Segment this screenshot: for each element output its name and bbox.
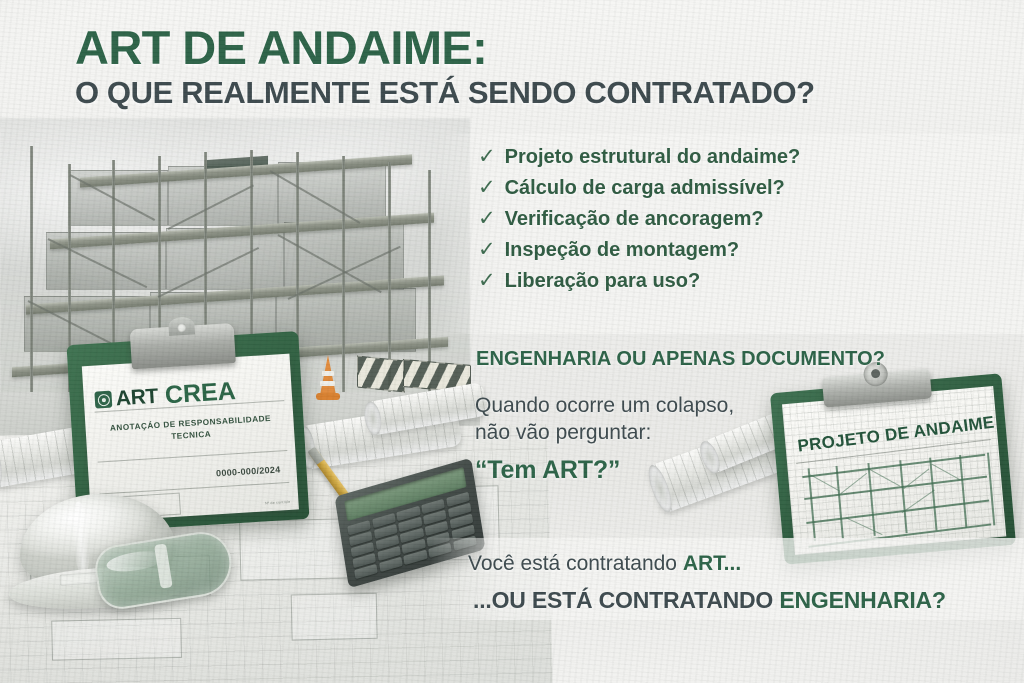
art-fine-print: Nº de controle bbox=[265, 500, 291, 506]
striped-safety-barrier bbox=[357, 355, 405, 392]
list-item: ✓ Cálculo de carga admissível? bbox=[478, 177, 800, 199]
poster-canvas: ART CREA ANOTAÇÁO DE RESPONSABILIDADE TE… bbox=[0, 0, 1024, 683]
art-crea-brand: ART CREA bbox=[94, 376, 284, 412]
footer-line-1-accent: ART... bbox=[683, 552, 741, 575]
footer-line-1: Você está contratando ART... bbox=[468, 550, 946, 577]
page-title: ART DE ANDAIME: O QUE REALMENTE ESTÁ SEN… bbox=[75, 24, 815, 109]
footer-statement: Você está contratando ART... ...OU ESTÁ … bbox=[468, 550, 946, 614]
scaffold-elevation-drawing bbox=[802, 453, 992, 542]
footer-line-2-plain: ...OU ESTÁ CONTRATANDO bbox=[473, 587, 779, 613]
list-item-label: Verificação de ancoragem? bbox=[505, 208, 764, 230]
requirements-checklist: ✓ Projeto estrutural do andaime? ✓ Cálcu… bbox=[478, 146, 800, 301]
footer-line-2-accent: ENGENHARIA? bbox=[779, 587, 945, 613]
check-icon: ✓ bbox=[478, 208, 496, 229]
title-line-1: ART DE ANDAIME: bbox=[75, 24, 815, 72]
list-item: ✓ Verificação de ancoragem? bbox=[478, 208, 800, 230]
art-document-number: 0000-000/2024 bbox=[216, 464, 281, 478]
clipboard-clip-icon bbox=[130, 323, 236, 369]
list-item: ✓ Projeto estrutural do andaime? bbox=[478, 146, 800, 168]
projeto-andaime-clipboard: PROJETO DE ANDAIME bbox=[770, 373, 1016, 565]
check-icon: ✓ bbox=[478, 177, 496, 198]
list-item-label: Liberação para uso? bbox=[505, 270, 701, 292]
collapse-statement: Quando ocorre um colapso, não vão pergun… bbox=[475, 393, 734, 485]
tem-art-quote: “Tem ART?” bbox=[475, 456, 734, 485]
collapse-line-2: não vão perguntar: bbox=[475, 420, 734, 447]
list-item-label: Cálculo de carga admissível? bbox=[505, 177, 785, 199]
collapse-line-1: Quando ocorre um colapso, bbox=[475, 393, 734, 420]
footer-line-2: ...OU ESTÁ CONTRATANDO ENGENHARIA? bbox=[473, 587, 946, 614]
footer-line-1-plain: Você está contratando bbox=[468, 552, 683, 575]
list-item-label: Projeto estrutural do andaime? bbox=[505, 146, 801, 168]
title-rest: DE ANDAIME: bbox=[170, 21, 487, 74]
check-icon: ✓ bbox=[478, 270, 496, 291]
art-wordmark: ART bbox=[115, 386, 158, 410]
crea-seal-icon bbox=[94, 391, 112, 409]
list-item: ✓ Inspeção de montagem? bbox=[478, 239, 800, 261]
art-crea-subtitle: ANOTAÇÁO DE RESPONSABILIDADE TECNICA bbox=[93, 412, 288, 448]
list-item-label: Inspeção de montagem? bbox=[505, 239, 740, 261]
title-line-2: O QUE REALMENTE ESTÁ SENDO CONTRATADO? bbox=[75, 77, 815, 110]
check-icon: ✓ bbox=[478, 146, 496, 167]
title-lead-word: ART bbox=[75, 21, 170, 74]
check-icon: ✓ bbox=[478, 239, 496, 260]
engenharia-heading: ENGENHARIA OU APENAS DOCUMENTO? bbox=[476, 348, 885, 371]
projeto-andaime-document: PROJETO DE ANDAIME bbox=[782, 386, 1006, 555]
traffic-cone bbox=[316, 352, 340, 400]
list-item: ✓ Liberação para uso? bbox=[478, 270, 800, 292]
